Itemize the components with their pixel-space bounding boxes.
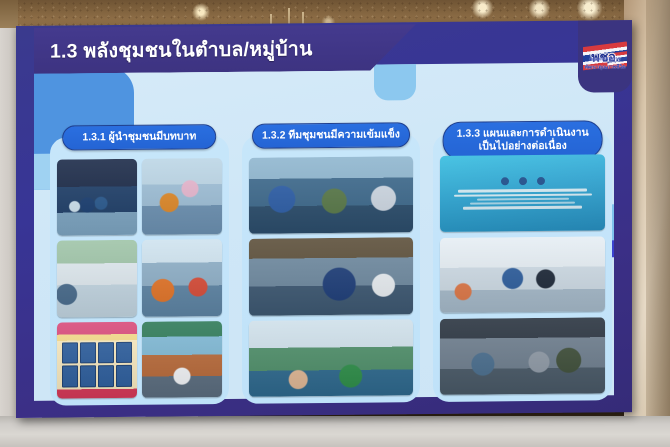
portrait-cell [98,342,114,364]
photo-row [440,318,605,395]
photo-row [249,156,414,234]
banner-text-line [470,202,575,205]
logo-card: พชอ. คณะกรรมการพัฒนาคุณภาพชีวิต [583,41,627,71]
photo-row [57,158,222,236]
photo-row [57,239,222,317]
portrait-cell [98,365,114,387]
portrait-cell [116,341,132,363]
photo-field-operation[interactable] [440,318,605,395]
photo-village-forum-hands[interactable] [249,319,414,397]
banner-text-line [454,193,592,197]
photo-row [440,154,605,231]
photo-row [249,238,414,316]
agency-seal-icon [519,177,527,185]
photo-committee-table[interactable] [57,240,137,317]
portrait-cell [62,366,78,388]
photo-team-group-cheer[interactable] [249,156,414,234]
photo-grid-2 [249,156,414,397]
photo-project-banner[interactable] [440,154,605,231]
agency-seal-icon [537,177,545,185]
portrait-cell [62,342,78,364]
photo-training-audience[interactable] [142,239,222,316]
photo-tent-outreach[interactable] [57,159,137,236]
photo-row [440,236,605,313]
page-title: 1.3 พลังชุมชนในตำบล/หมู่บ้าน [34,33,312,67]
portrait-cell [80,342,96,364]
banner-content [440,154,605,231]
panel-1-3-2-heading: 1.3.2 ทีมชุมชนมีความเข้มแข็ง [252,122,410,149]
wall-right-shadow [646,0,670,447]
photo-indoor-meeting[interactable] [142,158,222,235]
poster-title-bar: 1.3 พลังชุมชนในตำบล/หมู่บ้าน [34,24,416,74]
organization-logo-badge: พชอ. คณะกรรมการพัฒนาคุณภาพชีวิต [578,20,632,93]
photo-leader-structure-board[interactable] [57,321,137,398]
leader-portrait-grid [62,341,132,387]
photo-community-event[interactable] [142,321,222,398]
poster-board: 1.3 พลังชุมชนในตำบล/หมู่บ้าน พชอ. คณะกรร… [16,20,632,418]
panel-1-3-1[interactable]: 1.3.1 ผู้นำชุมชนมีบทบาท [50,136,229,406]
banner-text-line [463,206,582,210]
photo-home-visit-handover[interactable] [249,238,414,316]
photo-row [57,321,222,399]
banner-text-line [477,198,569,201]
banner-agency-logos [501,177,545,185]
photo-office-briefing[interactable] [440,236,605,313]
logo-subtitle: คณะกรรมการพัฒนาคุณภาพชีวิต [583,55,627,71]
screenshot-stage: 1.3 พลังชุมชนในตำบล/หมู่บ้าน พชอ. คณะกรร… [0,0,670,447]
photo-grid-3 [440,154,605,395]
portrait-cell [116,365,132,387]
panel-row: 1.3.1 ผู้นำชุมชนมีบทบาท [50,132,612,405]
floor-strip [0,416,670,447]
panel-1-3-1-heading: 1.3.1 ผู้นำชุมชนมีบทบาท [63,124,217,151]
decorative-shape-top [374,64,416,100]
agency-seal-icon [501,177,509,185]
portrait-cell [80,366,96,388]
panel-1-3-2[interactable]: 1.3.2 ทีมชุมชนมีความเข้มแข็ง [242,134,421,404]
banner-text-line [458,189,586,193]
panel-1-3-3[interactable]: 1.3.3 แผนและการดำเนินงานเป็นไปอย่างต่อเน… [433,132,612,402]
photo-grid-1 [57,158,222,399]
photo-row [249,319,414,397]
